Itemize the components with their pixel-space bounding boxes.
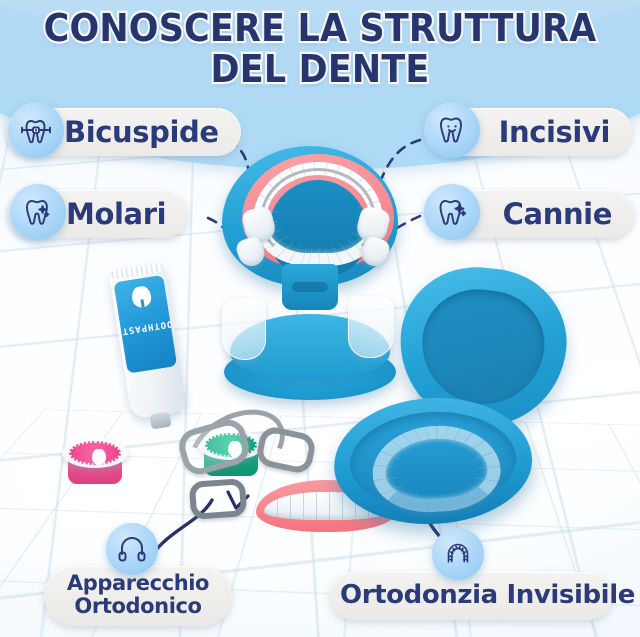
pink-pot-tooth-icon	[92, 449, 106, 465]
toothpaste-label: TOOTHPASTE	[113, 275, 177, 374]
pink-pot-lid	[62, 438, 128, 468]
model-braces-wire	[260, 168, 376, 260]
dental-arch-icon	[432, 528, 484, 580]
tooth-shine-icon	[424, 184, 480, 240]
callout-apparecchio-ortodonico[interactable]: Apparecchio Ortodonico	[44, 566, 232, 626]
headgear-strap-3	[189, 478, 248, 520]
toothpaste-label-text: TOOTHPASTE	[113, 316, 177, 339]
callout-incisivi-label: Incisivi	[499, 115, 610, 149]
tooth-smile-icon	[424, 102, 480, 158]
callout-ortodonzia-invisibile[interactable]: Ortodonzia Invisibile	[330, 572, 612, 620]
callout-apparecchio-label-line1: Apparecchio	[54, 572, 222, 595]
callout-cannie-label: Cannie	[503, 197, 612, 231]
toothpaste-cap	[150, 412, 172, 430]
page-title-line2: DEL DENTE	[26, 49, 615, 90]
clear-aligner-in-case	[370, 423, 502, 516]
page-title: CONOSCERE LA STRUTTURA DEL DENTE	[26, 8, 615, 90]
pink-wax-pot	[62, 438, 128, 484]
pink-pot-disc	[69, 441, 121, 465]
callout-apparecchio-label-line2: Ortodonico	[54, 595, 222, 618]
callout-bicuspide-label: Bicuspide	[64, 115, 219, 149]
tooth-sparkle-icon	[10, 184, 66, 240]
tooth-braces-icon	[8, 102, 64, 158]
page-title-line1: CONOSCERE LA STRUTTURA	[44, 6, 597, 50]
model-hinge	[282, 264, 338, 310]
retainer-case-lid-inner	[416, 284, 549, 410]
model-aligner-left	[222, 298, 266, 360]
dental-teeth-model	[214, 146, 404, 400]
model-aligner-right	[348, 296, 394, 358]
headgear-arch-icon	[106, 523, 158, 575]
toothpaste-tooth-icon	[131, 285, 153, 309]
callout-molari-label: Molari	[66, 197, 166, 231]
callout-ortodonzia-label: Ortodonzia Invisibile	[340, 581, 602, 609]
infographic-canvas: CONOSCERE LA STRUTTURA DEL DENTE	[0, 0, 640, 637]
retainer-case-base-inner	[348, 408, 519, 513]
